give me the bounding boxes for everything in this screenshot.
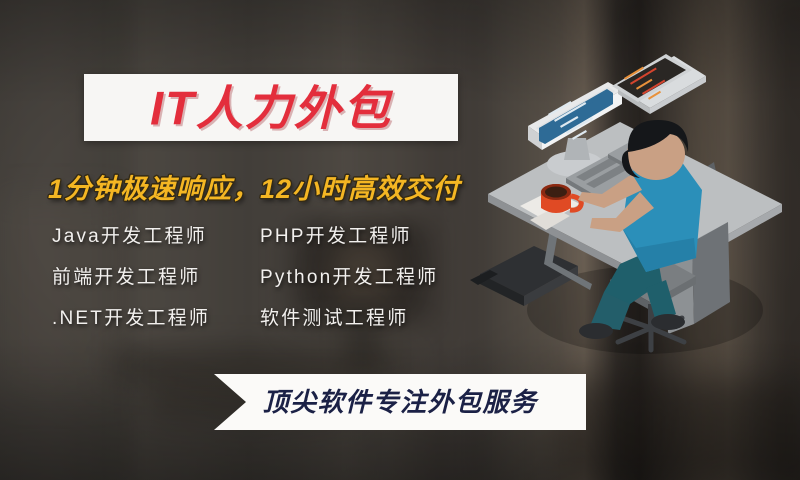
service-list: Java开发工程师 PHP开发工程师 前端开发工程师 Python开发工程师 .… (52, 224, 452, 332)
bottom-ribbon-surface: 顶尖软件专注外包服务 (214, 374, 586, 430)
service-item: .NET开发工程师 (52, 306, 260, 332)
service-item: Java开发工程师 (52, 224, 260, 250)
headline-box: IT人力外包 (84, 74, 458, 141)
bottom-ribbon-text: 顶尖软件专注外包服务 (214, 389, 586, 415)
headline-text: IT人力外包 (84, 84, 458, 131)
bottom-ribbon: 顶尖软件专注外包服务 (214, 374, 586, 430)
service-item: 软件测试工程师 (260, 306, 460, 332)
service-item: PHP开发工程师 (260, 224, 460, 250)
service-item: 前端开发工程师 (52, 265, 260, 291)
subheadline-text: 1分钟极速响应，12小时高效交付 (48, 176, 460, 203)
developer-illustration (470, 42, 800, 372)
poster-canvas: IT人力外包 1分钟极速响应，12小时高效交付 Java开发工程师 PHP开发工… (0, 0, 800, 480)
service-item: Python开发工程师 (260, 265, 460, 291)
